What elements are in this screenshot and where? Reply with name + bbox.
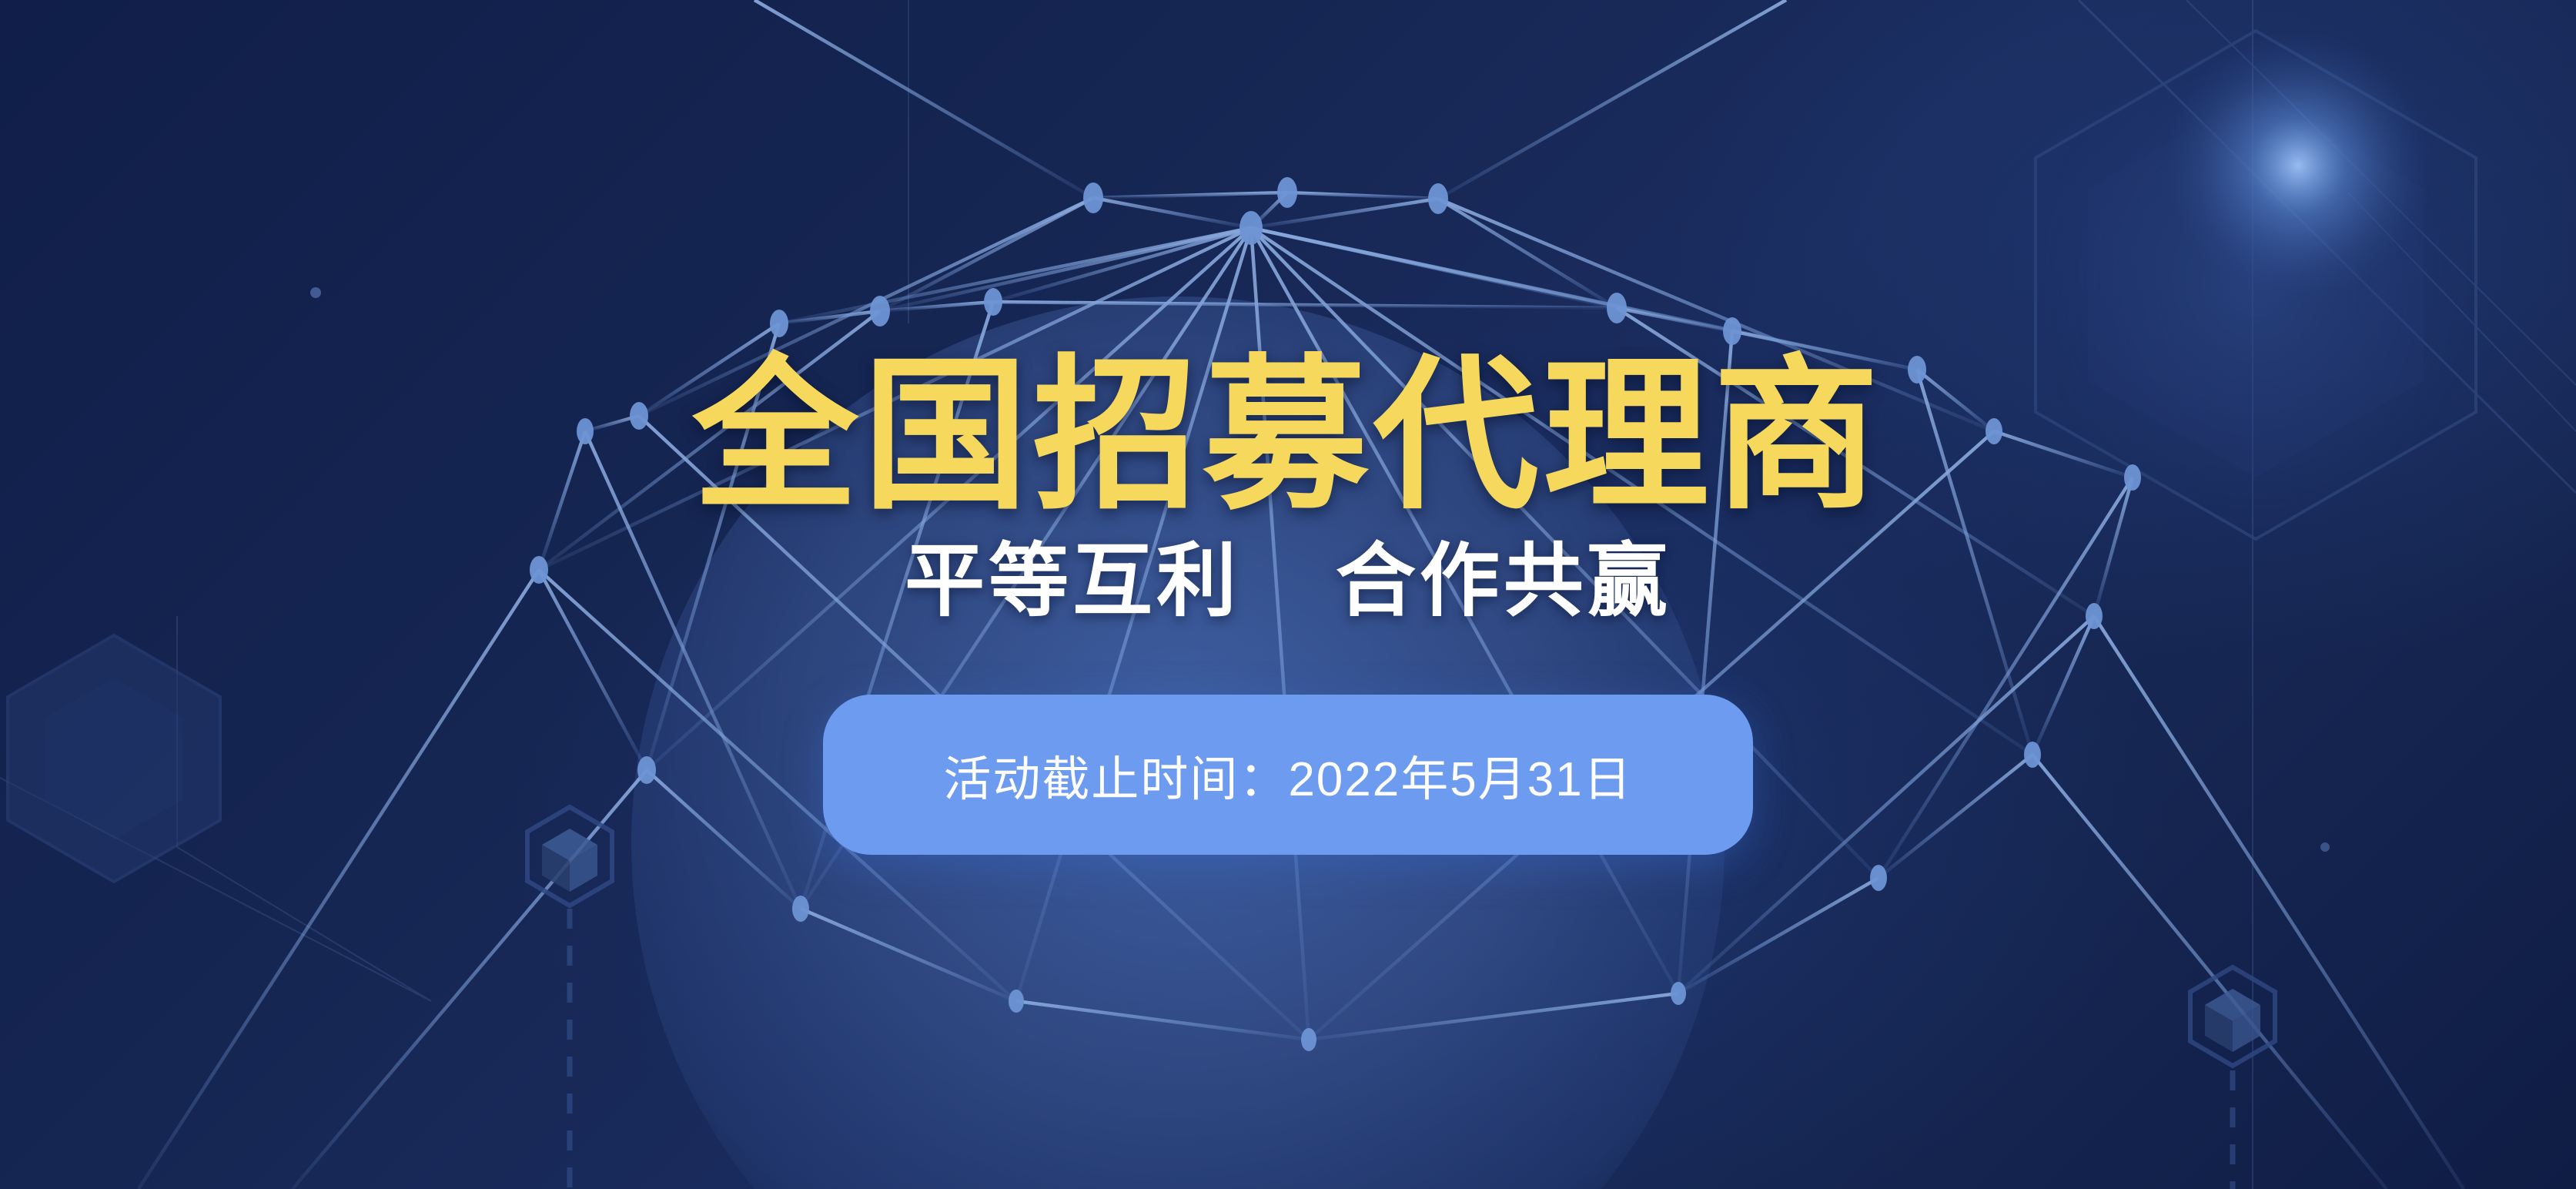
banner-content: 全国招募代理商 平等互利 合作共赢 活动截止时间：2022年5月31日 <box>0 0 2576 1189</box>
deadline-cta-button[interactable]: 活动截止时间：2022年5月31日 <box>823 695 1753 855</box>
promo-banner: 全国招募代理商 平等互利 合作共赢 活动截止时间：2022年5月31日 <box>0 0 2576 1189</box>
subtitle-part-right: 合作共赢 <box>1336 537 1671 626</box>
page-title: 全国招募代理商 <box>693 348 1884 524</box>
subtitle-part-left: 平等互利 <box>905 537 1240 626</box>
banner-subtitle: 平等互利 合作共赢 <box>905 538 1671 625</box>
